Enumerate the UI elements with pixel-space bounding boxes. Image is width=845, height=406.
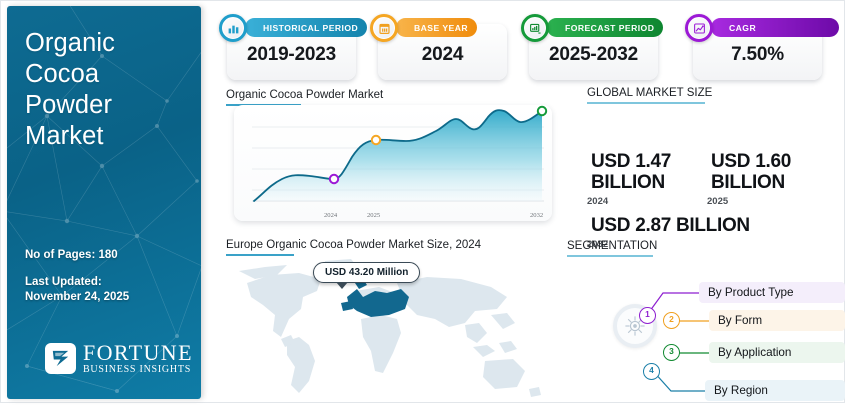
page-title: Organic Cocoa Powder Market <box>25 28 190 152</box>
infographic-root: Organic Cocoa Powder Market No of Pages:… <box>0 0 845 403</box>
segmentation-number-3: 3 <box>663 344 680 361</box>
left-panel: Organic Cocoa Powder Market No of Pages:… <box>7 6 201 399</box>
badge-ring <box>370 14 398 42</box>
chart-heading: Organic Cocoa Powder Market <box>226 89 383 101</box>
badge-pill: FORECAST PERIOD <box>547 18 663 37</box>
map-tooltip: USD 43.20 Million <box>313 262 420 283</box>
badge-base-year[interactable]: BASE YEAR 2024 <box>368 18 507 80</box>
fortune-logo-icon <box>45 343 76 374</box>
badge-forecast-period[interactable]: FORECAST PERIOD 2025-2032 <box>519 18 658 80</box>
segmentation-number-4: 4 <box>643 363 660 380</box>
map-heading: Europe Organic Cocoa Powder Market Size,… <box>226 239 481 251</box>
badge-ring <box>521 14 549 42</box>
gms-value: USD 2.87 BILLION <box>587 173 750 236</box>
world-map: USD 43.20 Million <box>229 253 559 401</box>
bar-chart-icon <box>227 22 240 35</box>
chart-xtick-2032: 2032 <box>530 212 543 219</box>
global-market-size-heading: GLOBAL MARKET SIZE <box>587 87 712 99</box>
fortune-business-insights-logo: FORTUNE BUSINESS INSIGHTS <box>45 342 193 375</box>
chart-marker-2032 <box>538 107 546 115</box>
chart-marker-2024 <box>330 175 338 183</box>
logo-secondary-text: BUSINESS INSIGHTS <box>83 365 193 375</box>
chart-marker-2025 <box>372 136 380 144</box>
badge-label: BASE YEAR <box>414 23 468 33</box>
badges-row: HISTORICAL PERIOD 2019-2023 BASE YEAR <box>217 10 839 82</box>
chart-svg <box>234 105 552 221</box>
badge-value: 2019-2023 <box>227 44 356 66</box>
segmentation-diagram: 1 By Product Type 2 By Form 3 By Applica… <box>587 249 845 401</box>
panel-meta: No of Pages: 180 Last Updated: November … <box>25 248 195 305</box>
gms-chip <box>587 110 600 128</box>
badge-value: 2025-2032 <box>529 44 658 66</box>
badge-label: HISTORICAL PERIOD <box>263 23 358 33</box>
forecast-icon <box>529 22 542 35</box>
badge-cagr[interactable]: CAGR 7.50% <box>683 18 822 80</box>
badge-value: 7.50% <box>693 44 822 66</box>
trend-up-icon <box>693 22 706 35</box>
badge-ring <box>685 14 713 42</box>
last-updated-value: November 24, 2025 <box>25 290 195 305</box>
badge-ring <box>219 14 247 42</box>
badge-pill: HISTORICAL PERIOD <box>245 18 367 37</box>
heading-underline <box>587 102 705 104</box>
gms-item-2032: USD 2.87 BILLION 2032 <box>587 173 750 250</box>
gms-chip <box>587 174 600 192</box>
market-trend-chart <box>234 105 552 221</box>
badge-label: FORECAST PERIOD <box>565 23 654 33</box>
gms-value-text: USD 2.87 BILLION <box>591 215 750 236</box>
badge-pill: BASE YEAR <box>396 18 477 37</box>
gms-chip <box>707 110 720 128</box>
pages-count: No of Pages: 180 <box>25 248 195 263</box>
calendar-icon <box>378 22 391 35</box>
chart-area <box>254 110 542 201</box>
segmentation-connectors <box>587 249 845 401</box>
gms-heading-wrap: GLOBAL MARKET SIZE <box>587 87 712 104</box>
segmentation-number-2: 2 <box>663 312 680 329</box>
chart-xtick-2024: 2024 <box>324 212 337 219</box>
last-updated-label: Last Updated: <box>25 275 195 290</box>
badge-value: 2024 <box>378 44 507 66</box>
connector-4 <box>653 371 705 391</box>
segmentation-number-1: 1 <box>639 307 656 324</box>
badge-label: CAGR <box>729 23 756 33</box>
badge-historical-period[interactable]: HISTORICAL PERIOD 2019-2023 <box>217 18 356 80</box>
logo-primary-text: FORTUNE <box>83 342 193 364</box>
badge-pill: CAGR <box>711 18 839 37</box>
chart-heading-wrap: Organic Cocoa Powder Market <box>226 89 383 106</box>
chart-xtick-2025: 2025 <box>367 212 380 219</box>
